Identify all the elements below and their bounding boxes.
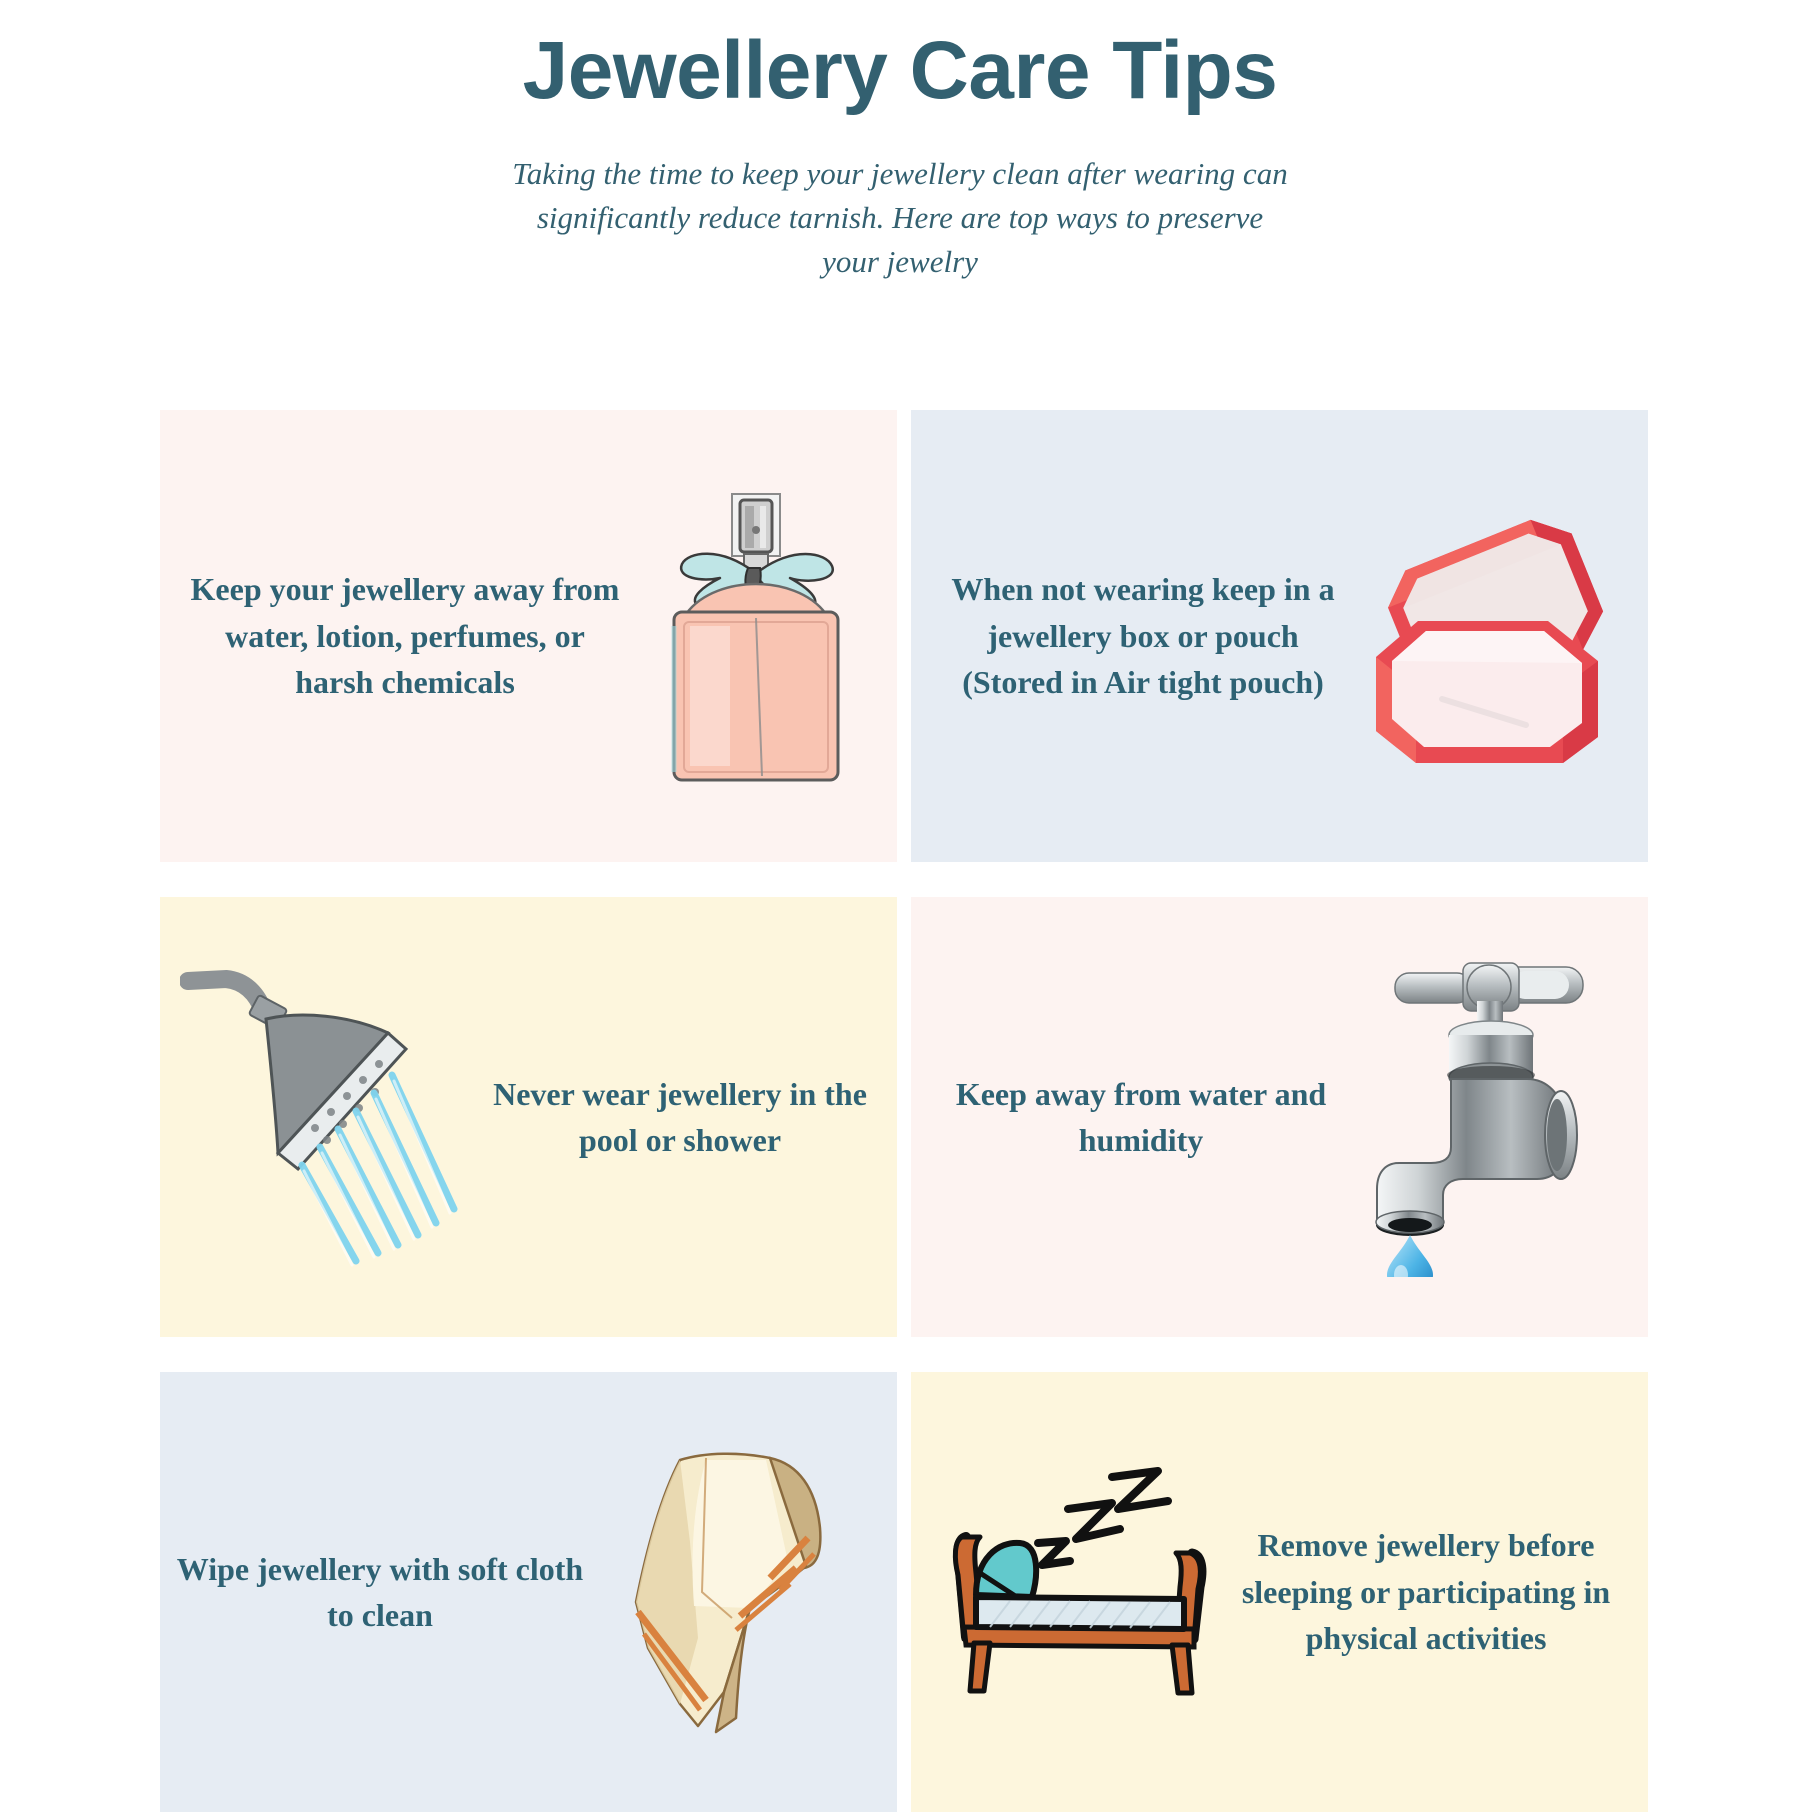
page-title: Jewellery Care Tips — [0, 28, 1800, 114]
card-chemicals[interactable]: Keep your jewellery away from water, lot… — [160, 410, 897, 862]
card-wipe-text: Wipe jewellery with soft cloth to clean — [170, 1546, 590, 1639]
card-wipe[interactable]: Wipe jewellery with soft cloth to clean — [160, 1372, 897, 1812]
card-chemicals-text: Keep your jewellery away from water, lot… — [190, 566, 620, 705]
header: Jewellery Care Tips Taking the time to k… — [0, 0, 1800, 284]
card-sleep-text: Remove jewellery before sleeping or part… — [1231, 1522, 1621, 1661]
jewellery-box-icon — [1353, 486, 1643, 786]
infographic-page: Jewellery Care Tips Taking the time to k… — [0, 0, 1800, 1800]
card-shower[interactable]: Never wear jewellery in the pool or show… — [160, 897, 897, 1337]
page-subtitle: Taking the time to keep your jewellery c… — [505, 152, 1295, 284]
perfume-bottle-icon — [620, 471, 890, 801]
faucet-icon — [1341, 952, 1641, 1282]
card-storage-text: When not wearing keep in a jewellery box… — [933, 566, 1353, 705]
card-shower-text: Never wear jewellery in the pool or show… — [480, 1071, 880, 1164]
card-sleep[interactable]: Remove jewellery before sleeping or part… — [911, 1372, 1648, 1812]
cloth-icon — [590, 1427, 880, 1757]
card-humidity-text: Keep away from water and humidity — [941, 1071, 1341, 1164]
shower-head-icon — [180, 952, 480, 1282]
sleeping-bed-icon — [941, 1452, 1231, 1732]
tips-grid: Keep your jewellery away from water, lot… — [160, 410, 1648, 1812]
card-storage[interactable]: When not wearing keep in a jewellery box… — [911, 410, 1648, 862]
card-humidity[interactable]: Keep away from water and humidity — [911, 897, 1648, 1337]
